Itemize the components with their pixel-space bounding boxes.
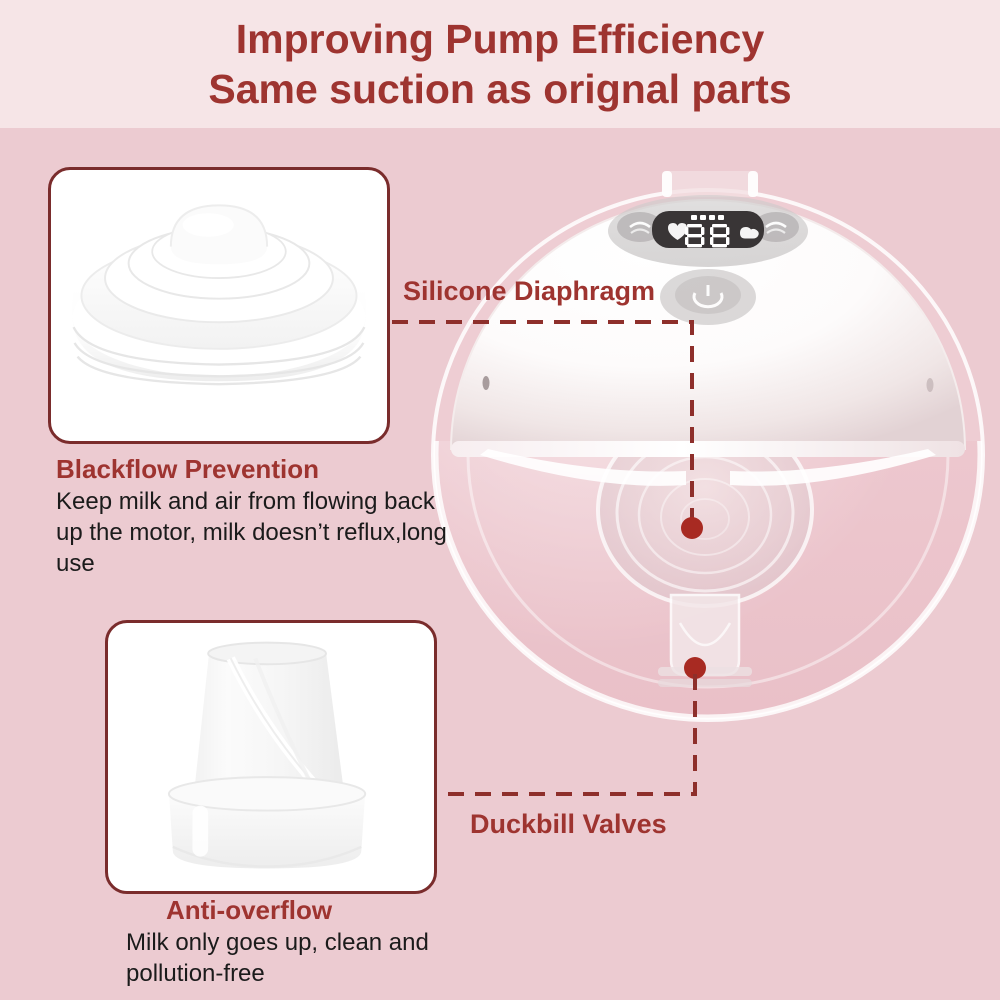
infographic-page: Improving Pump Efficiency Same suction a…: [0, 0, 1000, 1000]
vent-hole-right: [927, 378, 934, 392]
blackflow-title: Blackflow Prevention: [56, 452, 456, 486]
power-button[interactable]: [660, 269, 756, 325]
duckbill-valve-art: [108, 623, 434, 892]
duckbill-base-highlight: [192, 806, 208, 857]
control-panel: [608, 195, 808, 267]
duckbill-valves-callout-label: Duckbill Valves: [470, 808, 667, 840]
anti-overflow-body: Milk only goes up, clean and pollution-f…: [118, 927, 518, 989]
diaphragm-highlight: [183, 213, 234, 237]
header-title-line-1: Improving Pump Efficiency: [236, 14, 765, 64]
vent-hole-left: [483, 376, 490, 390]
valve-spout: [658, 595, 752, 687]
header-title-line-2: Same suction as orignal parts: [208, 64, 791, 114]
top-tabs: [662, 171, 758, 197]
header-banner: Improving Pump Efficiency Same suction a…: [0, 0, 1000, 128]
silicone-diaphragm-photo-box: [48, 167, 390, 444]
breast-pump-illustration: [418, 155, 998, 730]
lcd-display: [652, 211, 764, 248]
anti-overflow-caption-block: Anti-overflow Milk only goes up, clean a…: [118, 893, 518, 989]
silicone-diaphragm-callout-label: Silicone Diaphragm: [403, 275, 655, 307]
anti-overflow-title: Anti-overflow: [118, 893, 518, 927]
duckbill-valve-photo-box: [105, 620, 437, 894]
silicone-diaphragm-art: [51, 170, 387, 442]
blackflow-body: Keep milk and air from flowing back up t…: [56, 486, 456, 579]
pump-svg: [418, 155, 998, 730]
blackflow-caption-block: Blackflow Prevention Keep milk and air f…: [56, 452, 456, 579]
